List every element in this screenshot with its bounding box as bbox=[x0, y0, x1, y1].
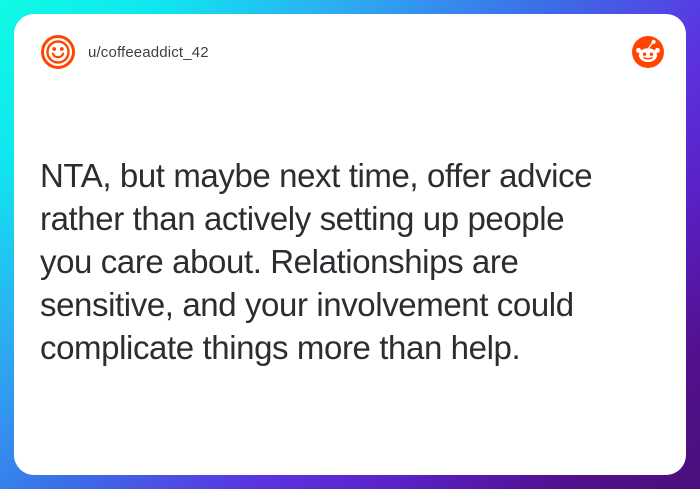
author-block[interactable]: u/coffeeaddict_42 bbox=[40, 34, 209, 70]
post-text-line: NTA, but maybe next time, offer advice bbox=[40, 154, 660, 197]
username-label: u/coffeeaddict_42 bbox=[88, 44, 209, 61]
post-header: u/coffeeaddict_42 bbox=[14, 14, 686, 90]
smiley-face-avatar-icon[interactable] bbox=[40, 34, 76, 70]
reddit-snoo-logo-icon[interactable] bbox=[632, 36, 664, 68]
reddit-post-card: u/coffeeaddict_42 NTA, but maybe next ti… bbox=[14, 14, 686, 475]
post-text-line: you care about. Relationships are bbox=[40, 240, 660, 283]
post-text-line: sensitive, and your involvement could bbox=[40, 283, 660, 326]
post-text-line: complicate things more than help. bbox=[40, 326, 660, 369]
post-text-line: rather than actively setting up people bbox=[40, 197, 660, 240]
post-body-text: NTA, but maybe next time, offer advice r… bbox=[40, 154, 660, 369]
gradient-background: u/coffeeaddict_42 NTA, but maybe next ti… bbox=[0, 0, 700, 489]
